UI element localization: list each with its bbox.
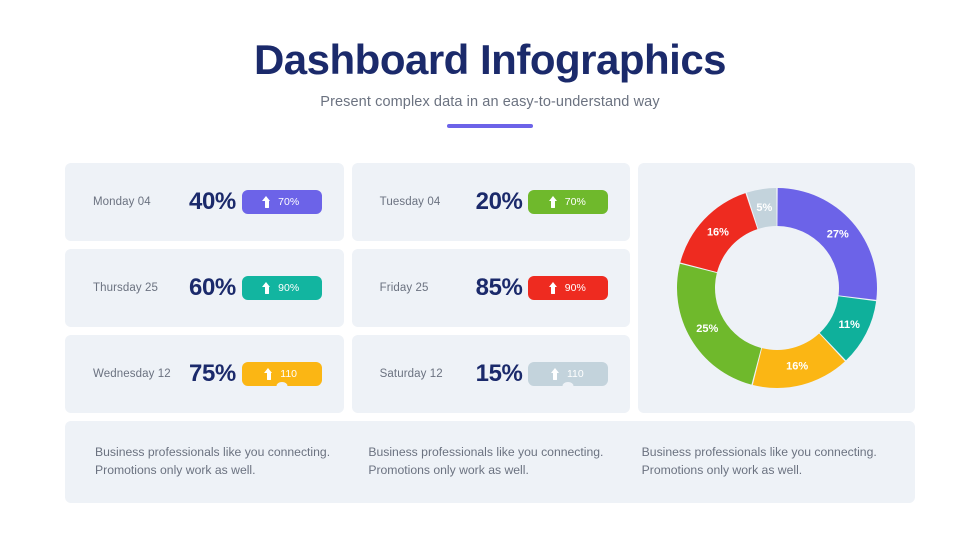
caption-text: Business professionals like you connecti… <box>368 444 641 479</box>
stat-value: 85% <box>466 274 529 302</box>
stat-label: Friday 25 <box>380 282 466 294</box>
stat-value: 75% <box>179 360 242 388</box>
stat-label: Saturday 12 <box>380 368 466 380</box>
arrow-up-icon <box>262 282 271 294</box>
status-badge[interactable]: 90% <box>528 276 608 300</box>
donut-chart-panel: 27%11%16%25%16%5% <box>638 163 915 413</box>
stat-value: 40% <box>179 188 242 216</box>
badge-value: 110 <box>567 369 584 380</box>
stat-card-monday[interactable]: Monday 04 40% 70% <box>65 163 344 241</box>
arrow-up-icon <box>262 196 271 208</box>
donut-segment-label: 16% <box>707 227 729 239</box>
status-badge[interactable]: 90% <box>242 276 322 300</box>
stat-label: Thursday 25 <box>93 282 179 294</box>
dashboard-content: Monday 04 40% 70% Thursday 25 60% 90% <box>65 163 915 503</box>
donut-segment-label: 11% <box>838 319 860 331</box>
stat-value: 15% <box>466 360 529 388</box>
caption-text: Business professionals like you connecti… <box>642 444 915 479</box>
arrow-up-icon <box>549 282 558 294</box>
stat-label: Monday 04 <box>93 196 179 208</box>
stat-card-saturday[interactable]: Saturday 12 15% 110 <box>352 335 631 413</box>
arrow-up-icon <box>551 368 560 380</box>
arrow-up-icon <box>549 196 558 208</box>
stats-column-left: Monday 04 40% 70% Thursday 25 60% 90% <box>65 163 344 413</box>
caption-text: Business professionals like you connecti… <box>95 444 368 479</box>
stat-card-thursday[interactable]: Thursday 25 60% 90% <box>65 249 344 327</box>
donut-segment-label: 25% <box>696 323 718 335</box>
badge-value: 90% <box>565 283 586 294</box>
status-badge[interactable]: 70% <box>242 190 322 214</box>
donut-segment-label: 27% <box>826 228 848 240</box>
stat-card-tuesday[interactable]: Tuesday 04 20% 70% <box>352 163 631 241</box>
stat-label: Tuesday 04 <box>380 196 466 208</box>
title-underline-accent <box>447 124 533 128</box>
donut-segments <box>677 188 877 388</box>
status-badge[interactable]: 110 <box>528 362 608 386</box>
slide-header: Dashboard Infographics Present complex d… <box>0 0 980 128</box>
stat-label: Wednesday 12 <box>93 368 179 380</box>
stat-card-friday[interactable]: Friday 25 85% 90% <box>352 249 631 327</box>
page-subtitle: Present complex data in an easy-to-under… <box>0 94 980 110</box>
status-badge[interactable]: 70% <box>528 190 608 214</box>
slide-root: Dashboard Infographics Present complex d… <box>0 0 980 551</box>
donut-segment-label: 5% <box>756 202 772 214</box>
donut-chart-svg: 27%11%16%25%16%5% <box>670 181 884 395</box>
donut-segment-label: 16% <box>786 360 808 372</box>
badge-value: 110 <box>280 369 297 380</box>
stat-card-wednesday[interactable]: Wednesday 12 75% 110 <box>65 335 344 413</box>
panels-row: Monday 04 40% 70% Thursday 25 60% 90% <box>65 163 915 413</box>
badge-value: 70% <box>565 197 586 208</box>
stats-column-right: Tuesday 04 20% 70% Friday 25 85% 90% <box>352 163 631 413</box>
arrow-up-icon <box>264 368 273 380</box>
donut-segment[interactable] <box>777 188 877 300</box>
badge-value: 70% <box>278 197 299 208</box>
page-title: Dashboard Infographics <box>0 38 980 82</box>
donut-chart[interactable]: 27%11%16%25%16%5% <box>670 181 884 395</box>
stat-value: 20% <box>466 188 529 216</box>
badge-value: 90% <box>278 283 299 294</box>
status-badge[interactable]: 110 <box>242 362 322 386</box>
captions-panel: Business professionals like you connecti… <box>65 421 915 503</box>
donut-segment[interactable] <box>677 264 761 385</box>
stat-value: 60% <box>179 274 242 302</box>
